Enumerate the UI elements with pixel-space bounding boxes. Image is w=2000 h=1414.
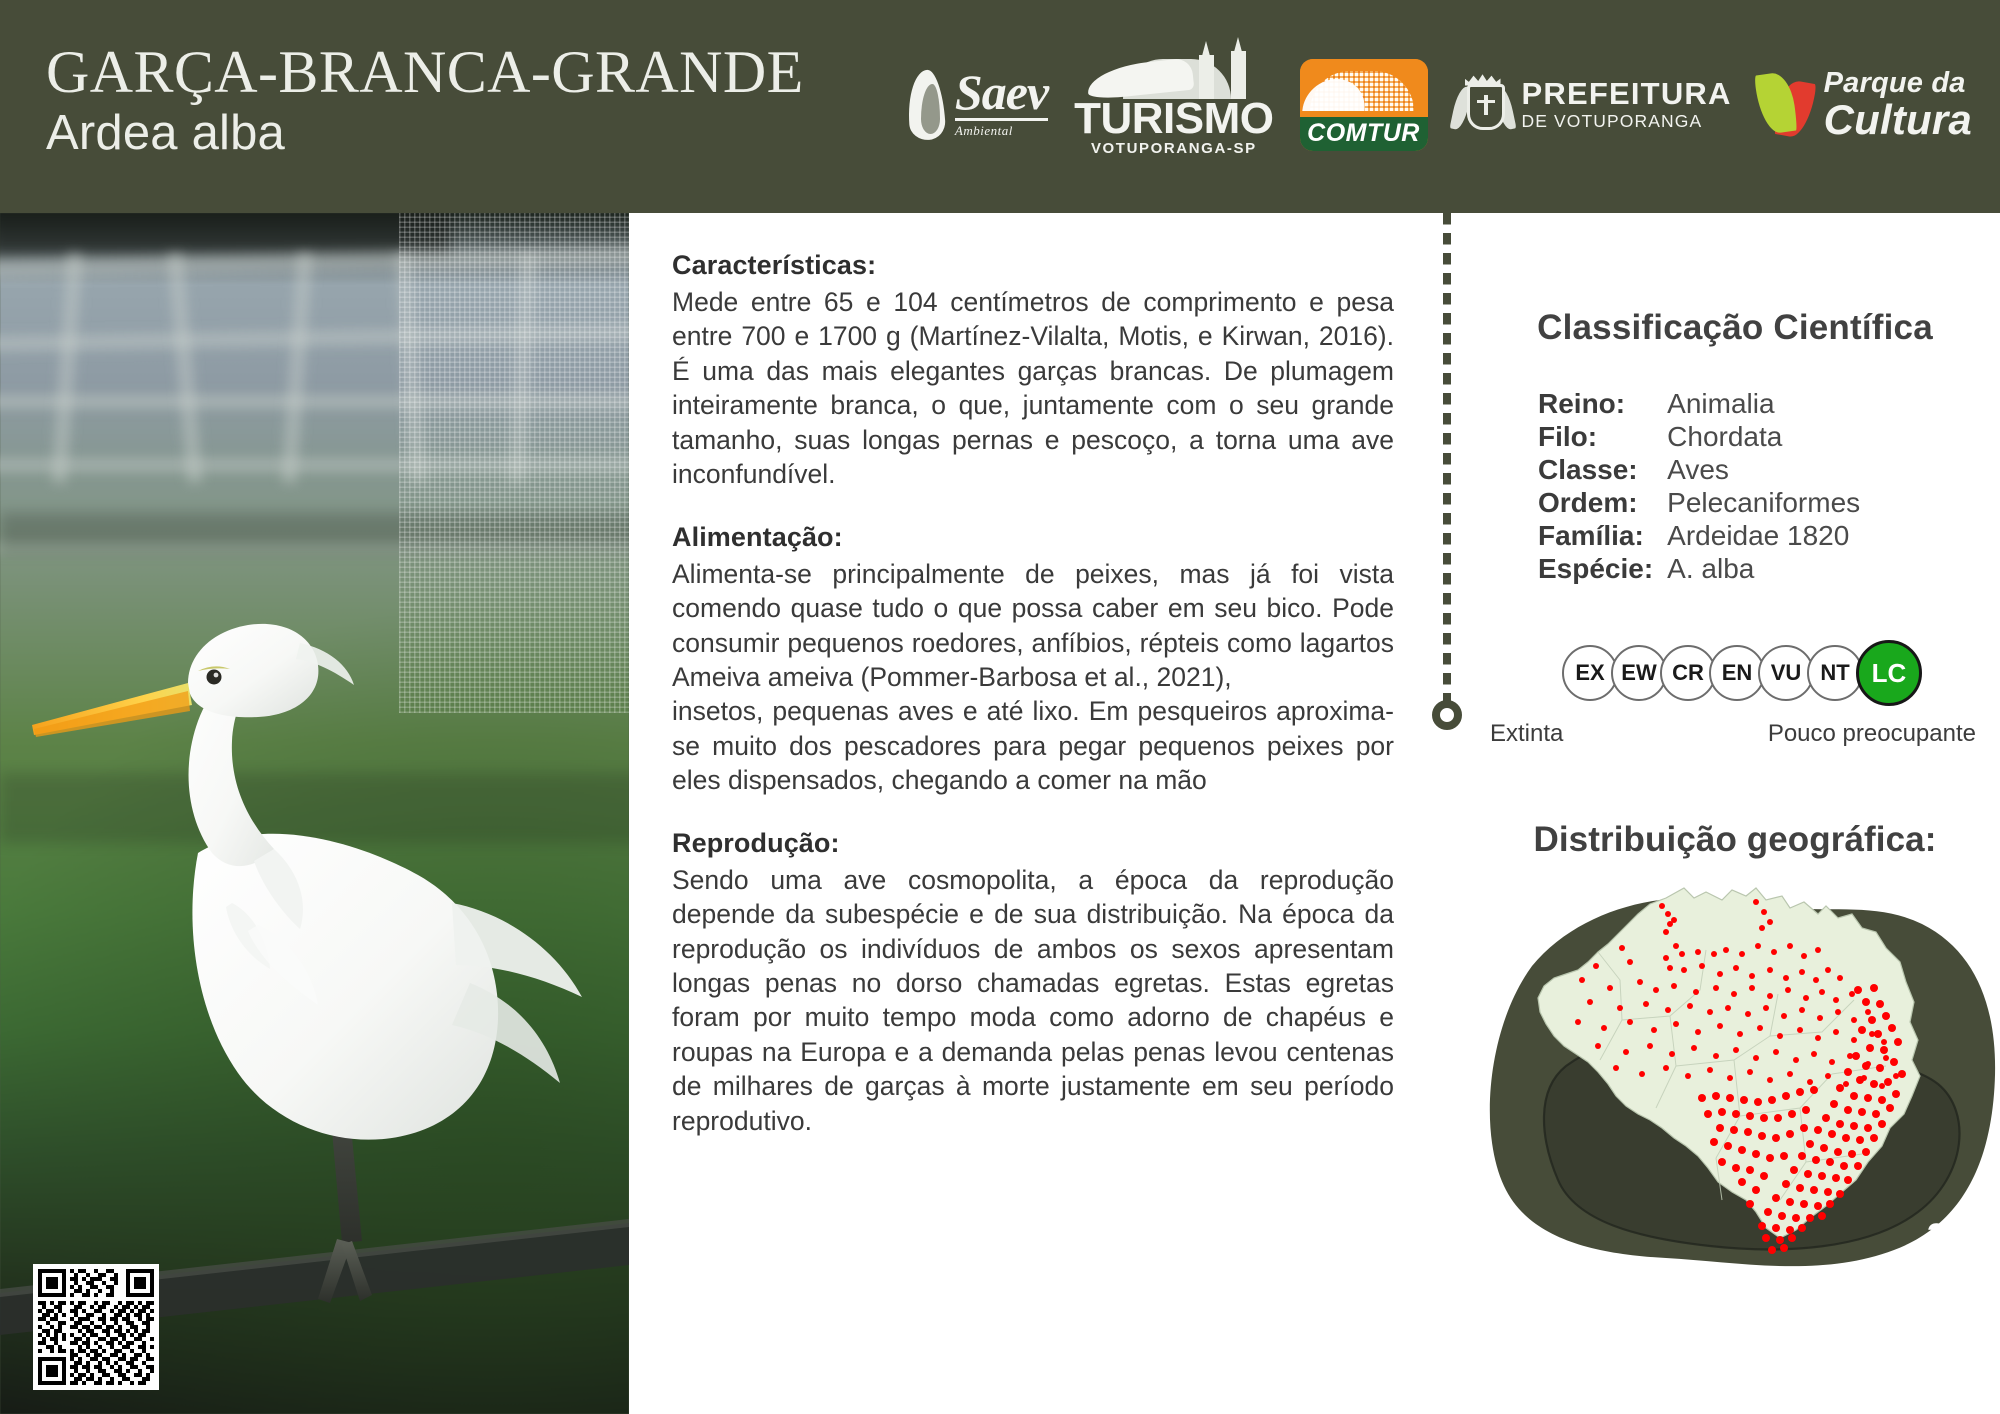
taxonomy-label-especie: Espécie:: [1538, 553, 1653, 585]
taxonomy-label-ordem: Ordem:: [1538, 487, 1653, 519]
dashed-divider: [1443, 213, 1451, 705]
section-body-continued: insetos, pequenas aves e até lixo. Em pe…: [672, 694, 1394, 797]
section-body: Mede entre 65 e 104 centímetros de compr…: [672, 285, 1394, 492]
page-header: GARÇA-BRANCA-GRANDE Ardea alba Saev Ambi…: [0, 0, 2000, 213]
prefeitura-word: PREFEITURA: [1522, 78, 1732, 109]
coat-of-arms-icon: [1454, 72, 1512, 138]
status-badge-en[interactable]: EN: [1709, 645, 1765, 701]
status-badge-lc-active[interactable]: LC: [1856, 640, 1922, 706]
comtur-word: COMTUR: [1307, 121, 1420, 146]
section-title: Características:: [672, 250, 1394, 281]
taxonomy-label-classe: Classe:: [1538, 454, 1653, 486]
status-badge-ew[interactable]: EW: [1611, 645, 1667, 701]
taxonomy-value-filo: Chordata: [1667, 421, 1860, 453]
comtur-band: COMTUR: [1300, 117, 1428, 151]
prefeitura-subtitle: DE VOTUPORANGA: [1522, 111, 1732, 132]
turismo-subtitle: VOTUPORANGA-SP: [1091, 140, 1257, 157]
flame-icon: [905, 68, 947, 142]
leaf-icon: [1758, 69, 1814, 141]
section-caracteristicas: Características: Mede entre 65 e 104 cen…: [672, 250, 1394, 492]
turismo-word: TURISMO: [1074, 100, 1273, 138]
taxonomy-value-reino: Animalia: [1667, 388, 1860, 420]
conservation-status: EX EW CR EN VU NT LC Extinta Pouco preoc…: [1470, 640, 2000, 748]
iucn-scale-labels: Extinta Pouco preocupante: [1490, 720, 1976, 748]
page-number: 34: [1927, 1217, 1966, 1256]
section-title: Reprodução:: [672, 828, 1394, 859]
egret-illustration: [0, 213, 629, 1414]
taxonomy-table: Reino: Animalia Filo: Chordata Classe: A…: [1538, 388, 1860, 585]
saev-subtitle: Ambiental: [955, 123, 1048, 139]
qr-code[interactable]: [33, 1264, 159, 1390]
taxonomy-label-filo: Filo:: [1538, 421, 1653, 453]
pavilion-icon: [1300, 59, 1428, 117]
taxonomy-value-especie: A. alba: [1667, 553, 1860, 585]
brazil-occurrence-map: [1470, 870, 2000, 1270]
qr-code-matrix: [38, 1269, 154, 1385]
info-panel: Classificação Científica Reino: Animalia…: [1470, 213, 2000, 1414]
saev-wordmark: Saev Ambiental: [955, 70, 1048, 139]
iucn-label-right: Pouco preocupante: [1768, 720, 1976, 748]
distribution-title: Distribuição geográfica:: [1470, 820, 2000, 860]
section-reproducao: Reprodução: Sendo uma ave cosmopolita, a…: [672, 828, 1394, 1139]
taxonomy-label-familia: Família:: [1538, 520, 1653, 552]
status-badge-nt[interactable]: NT: [1807, 645, 1863, 701]
iucn-scale: EX EW CR EN VU NT LC: [1470, 640, 2000, 706]
title-block: GARÇA-BRANCA-GRANDE Ardea alba: [46, 42, 804, 160]
page-title-scientific-name: Ardea alba: [46, 107, 804, 160]
species-description-column: Características: Mede entre 65 e 104 cen…: [672, 250, 1394, 1138]
species-photo: [0, 213, 629, 1414]
page-title-common-name: GARÇA-BRANCA-GRANDE: [46, 42, 804, 103]
section-body: Alimenta-se principalmente de peixes, ma…: [672, 557, 1394, 695]
status-badge-cr[interactable]: CR: [1660, 645, 1716, 701]
section-body: Sendo uma ave cosmopolita, a época da re…: [672, 863, 1394, 1139]
logo-parque-da-cultura: Parque da Cultura: [1758, 52, 1972, 157]
cathedral-pavilion-icon: [1081, 52, 1267, 99]
divider-end-dot-icon: [1432, 700, 1462, 730]
taxonomy-value-classe: Aves: [1667, 454, 1860, 486]
iucn-label-left: Extinta: [1490, 720, 1563, 748]
partner-logo-strip: Saev Ambiental TURISMO VOTUPORANGA-SP: [905, 52, 1972, 157]
section-alimentacao: Alimentação: Alimenta-se principalmente …: [672, 522, 1394, 798]
taxonomy-value-ordem: Pelecaniformes: [1667, 487, 1860, 519]
status-badge-vu[interactable]: VU: [1758, 645, 1814, 701]
section-title: Alimentação:: [672, 522, 1394, 553]
classification-title: Classificação Científica: [1470, 308, 2000, 348]
species-fact-sheet-page: GARÇA-BRANCA-GRANDE Ardea alba Saev Ambi…: [0, 0, 2000, 1414]
logo-saev: Saev Ambiental: [905, 52, 1048, 157]
status-badge-ex[interactable]: EX: [1562, 645, 1618, 701]
prefeitura-wordmark: PREFEITURA DE VOTUPORANGA: [1522, 78, 1732, 132]
logo-prefeitura: PREFEITURA DE VOTUPORANGA: [1454, 52, 1732, 157]
taxonomy-value-familia: Ardeidae 1820: [1667, 520, 1860, 552]
distribution-map: 34: [1470, 870, 2000, 1270]
taxonomy-label-reino: Reino:: [1538, 388, 1653, 420]
parque-word-line1: Parque da: [1824, 69, 1972, 98]
logo-comtur: COMTUR VOTUPORANGA: [1300, 59, 1428, 151]
saev-word: Saev: [955, 70, 1048, 115]
parque-wordmark: Parque da Cultura: [1824, 69, 1972, 141]
parque-word-line2: Cultura: [1824, 99, 1972, 141]
logo-turismo: TURISMO VOTUPORANGA-SP: [1074, 52, 1273, 157]
